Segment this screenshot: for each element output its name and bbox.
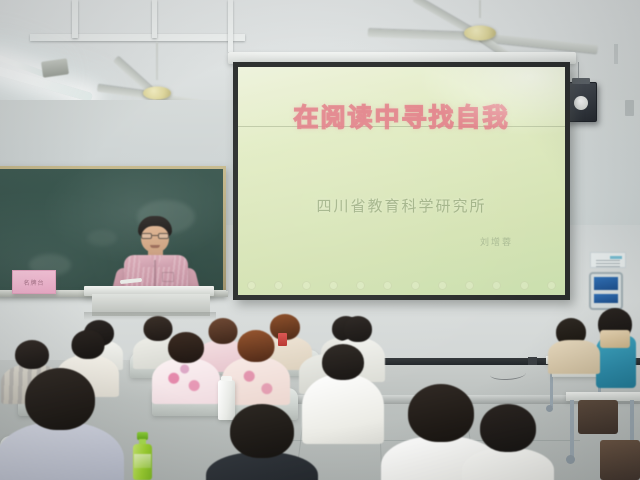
presentation-slide: 在阅读中寻找自我 四川省教育科学研究所 刘增蓉 <box>238 67 565 295</box>
audience-person <box>474 404 542 480</box>
fan-hub <box>143 87 171 100</box>
fan-rod <box>156 42 158 80</box>
desk-bag <box>600 330 630 348</box>
bottle-label <box>134 454 151 468</box>
pink-name-sign: 名牌台 <box>12 270 56 294</box>
notice-board-banner <box>594 294 618 303</box>
notice-board <box>588 252 628 314</box>
projection-screen-frame: 在阅读中寻找自我 四川省教育科学研究所 刘增蓉 <box>233 62 570 300</box>
person-head <box>238 330 275 362</box>
slide-footer-dot <box>302 281 311 290</box>
slide-footer-dot <box>247 281 256 290</box>
person-torso <box>152 358 220 404</box>
slide-footer-dot <box>274 281 283 290</box>
fan-hub <box>464 26 496 41</box>
presenter-figure <box>110 216 202 296</box>
slide-footer-dot <box>547 281 556 290</box>
desk-leg <box>570 400 574 458</box>
presenter-shirt-pocket <box>162 272 174 282</box>
slide-footer-decoration <box>238 277 565 293</box>
slide-footer-dot <box>383 281 392 290</box>
person-torso <box>302 374 384 444</box>
pink-sign-label: 名牌台 <box>23 278 44 287</box>
slide-presenter-name: 刘增蓉 <box>480 235 513 248</box>
person-head <box>230 404 294 458</box>
notice-board-text-line <box>596 263 620 264</box>
slide-footer-dot <box>438 281 447 290</box>
green-drink-bottle <box>133 432 152 480</box>
slide-footer-dot <box>329 281 338 290</box>
person-head <box>344 316 372 342</box>
notice-board-panel <box>589 272 623 310</box>
notice-board-accent <box>610 256 622 259</box>
desk-caster <box>546 405 553 412</box>
eyeglasses-icon <box>141 233 169 239</box>
audience-person <box>222 404 302 480</box>
audience-person <box>158 332 214 394</box>
speaker-cone-icon <box>574 96 588 110</box>
presenter-mouth <box>150 245 160 248</box>
ceiling-beam-vertical-left <box>72 0 78 38</box>
person-head <box>72 330 105 359</box>
person-head <box>168 332 204 363</box>
ceiling-beam-horizontal <box>30 34 245 41</box>
person-torso <box>548 340 600 374</box>
slide-footer-dot <box>492 281 501 290</box>
wall-outlet <box>528 357 537 365</box>
notice-board-banner <box>594 277 618 290</box>
thermos-cap <box>221 376 232 381</box>
desk-caster <box>566 455 575 464</box>
slide-footer-dot <box>411 281 420 290</box>
slide-footer-dot <box>520 281 529 290</box>
glasses-lens-right <box>158 233 169 239</box>
person-torso <box>462 448 554 480</box>
notice-board-header <box>590 252 626 268</box>
ceiling-beam-vertical-right <box>152 0 157 38</box>
desk-chair-seat <box>600 440 640 480</box>
glasses-lens-left <box>141 233 152 239</box>
notice-board-text-line <box>596 266 620 267</box>
speaker-bracket <box>572 78 590 84</box>
presenter-face <box>141 226 169 253</box>
audience-person <box>14 368 106 480</box>
person-head <box>15 340 49 369</box>
person-head <box>408 384 474 442</box>
slide-footer-dot <box>356 281 365 290</box>
person-head <box>322 344 364 380</box>
wall-bracket-arm <box>614 44 618 64</box>
audience-person <box>312 344 374 434</box>
ceiling-fan-upper <box>355 16 605 50</box>
ceiling-beam-hanger <box>228 0 233 52</box>
fan-rod <box>479 0 481 18</box>
slide-subtitle: 四川省教育科学研究所 <box>238 195 565 216</box>
screen-glare <box>421 67 565 135</box>
lecture-hall-photo: 在阅读中寻找自我 四川省教育科学研究所 刘增蓉 <box>0 0 640 480</box>
notice-board-text-line <box>596 260 620 261</box>
desk-chair-seat <box>578 400 618 434</box>
wall-bracket-right <box>625 100 634 116</box>
chalk-tray-right-segment <box>214 291 228 297</box>
slide-footer-dot <box>465 281 474 290</box>
person-head <box>25 368 95 430</box>
person-torso <box>0 422 124 480</box>
person-head <box>480 404 536 452</box>
audience-person <box>228 330 284 394</box>
